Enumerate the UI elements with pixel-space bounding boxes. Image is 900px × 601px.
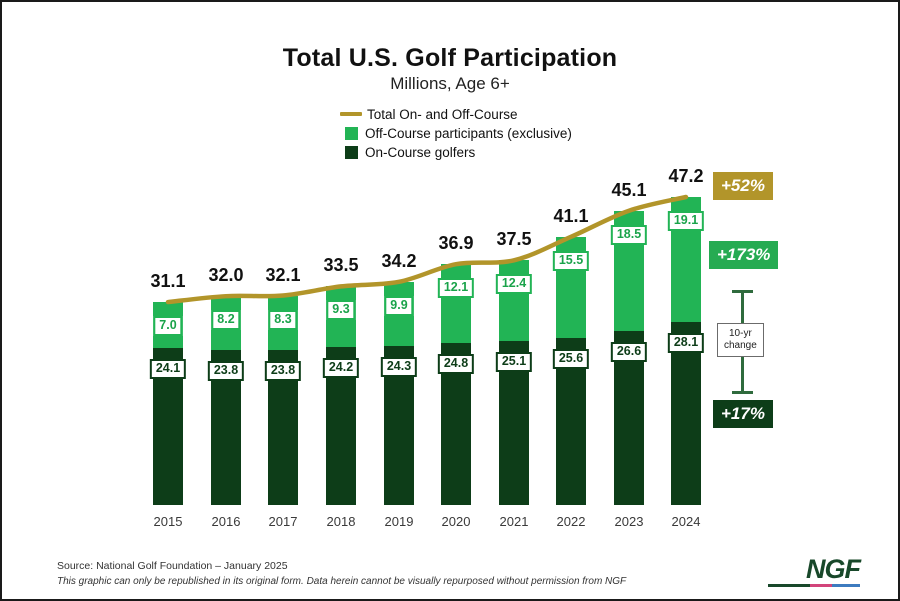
bracket-label-line1: 10-yr: [724, 328, 757, 340]
bar-value-label-off-course: 8.3: [268, 310, 297, 330]
plot-area: 31.17.024.1201532.08.223.8201632.18.323.…: [2, 2, 900, 601]
ngf-logo: NGF: [768, 555, 860, 587]
ngf-logo-text: NGF: [768, 555, 860, 583]
bar-value-label-off-course: 15.5: [553, 251, 589, 271]
bracket-cap-bottom: [732, 391, 753, 394]
x-axis-tick-label: 2016: [212, 514, 241, 529]
bar-value-label-off-course: 12.4: [496, 274, 532, 294]
bar-value-label-on-course: 25.6: [553, 349, 589, 369]
bar-value-label-off-course: 7.0: [153, 316, 182, 336]
bar-value-label-on-course: 23.8: [265, 361, 301, 381]
bar-value-label-off-course: 9.3: [326, 300, 355, 320]
bar-group[interactable]: [556, 2, 586, 601]
bar-value-label-on-course: 24.2: [323, 358, 359, 378]
bar-total-label: 37.5: [496, 229, 531, 250]
badge-offcourse-change: +173%: [709, 241, 778, 269]
bar-total-label: 45.1: [611, 180, 646, 201]
badge-oncourse-change: +17%: [713, 400, 773, 428]
bar-value-label-on-course: 25.1: [496, 352, 532, 372]
bar-total-label: 34.2: [381, 251, 416, 272]
bracket-cap-top: [732, 290, 753, 293]
bar-group[interactable]: [499, 2, 529, 601]
x-axis-tick-label: 2018: [327, 514, 356, 529]
bar-group[interactable]: [211, 2, 241, 601]
bar-group[interactable]: [153, 2, 183, 601]
bar-total-label: 47.2: [668, 166, 703, 187]
x-axis-tick-label: 2017: [269, 514, 298, 529]
bracket-label-box: 10-yr change: [717, 323, 764, 357]
bar-value-label-on-course: 26.6: [611, 342, 647, 362]
bar-value-label-on-course: 24.3: [381, 357, 417, 377]
bar-total-label: 31.1: [150, 271, 185, 292]
bar-value-label-off-course: 18.5: [611, 225, 647, 245]
x-axis-tick-label: 2022: [557, 514, 586, 529]
bar-value-label-on-course: 23.8: [208, 361, 244, 381]
bar-value-label-off-course: 19.1: [668, 211, 704, 231]
bar-total-label: 41.1: [553, 206, 588, 227]
bar-total-label: 32.0: [208, 265, 243, 286]
bar-value-label-off-course: 9.9: [384, 296, 413, 316]
bar-group[interactable]: [671, 2, 701, 601]
bar-total-label: 33.5: [323, 255, 358, 276]
x-axis-tick-label: 2024: [672, 514, 701, 529]
bar-value-label-off-course: 8.2: [211, 310, 240, 330]
bar-value-label-off-course: 12.1: [438, 278, 474, 298]
bar-value-label-on-course: 24.1: [150, 359, 186, 379]
x-axis-tick-label: 2021: [500, 514, 529, 529]
bar-value-label-on-course: 28.1: [668, 333, 704, 353]
bar-group[interactable]: [441, 2, 471, 601]
bar-total-label: 36.9: [438, 233, 473, 254]
disclaimer-text: This graphic can only be republished in …: [57, 576, 626, 587]
x-axis-tick-label: 2020: [442, 514, 471, 529]
source-text: Source: National Golf Foundation – Janua…: [57, 560, 288, 572]
bar-group[interactable]: [268, 2, 298, 601]
badge-total-change: +52%: [713, 172, 773, 200]
bar-group[interactable]: [614, 2, 644, 601]
bracket-label-line2: change: [724, 340, 757, 352]
bar-total-label: 32.1: [265, 265, 300, 286]
bar-segment-off-course[interactable]: [441, 264, 471, 343]
x-axis-tick-label: 2023: [615, 514, 644, 529]
x-axis-tick-label: 2019: [385, 514, 414, 529]
bar-segment-off-course[interactable]: [499, 260, 529, 341]
bar-value-label-on-course: 24.8: [438, 354, 474, 374]
chart-canvas: Total U.S. Golf Participation Millions, …: [0, 0, 900, 601]
x-axis-tick-label: 2015: [154, 514, 183, 529]
ngf-logo-underline: [768, 584, 860, 587]
